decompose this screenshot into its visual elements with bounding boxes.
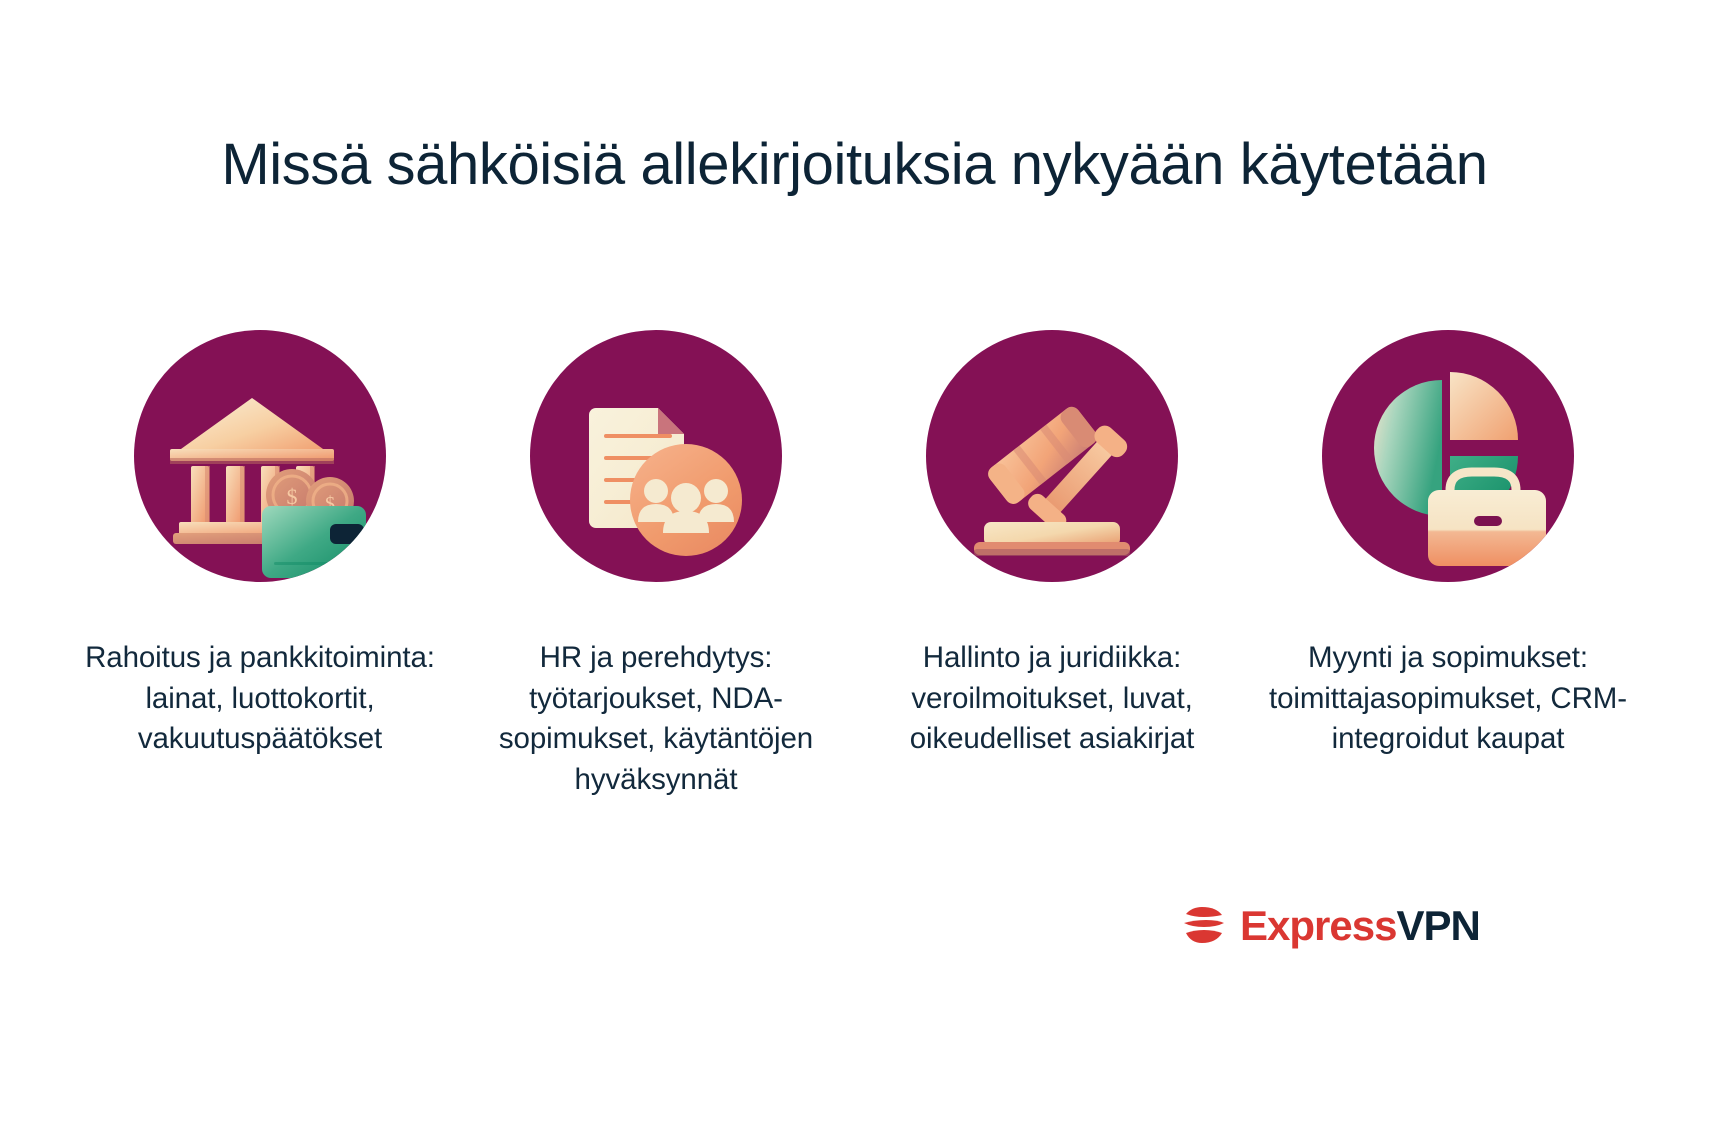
infographic-page: Missä sähköisiä allekirjoituksia nykyään… bbox=[0, 0, 1709, 1121]
icon-circle-sales bbox=[1322, 330, 1574, 582]
card-row: $ $ Rahoitus ja pankkitoiminta: lainat, … bbox=[62, 330, 1647, 801]
card-legal: Hallinto ja juridiikka: veroilmoitukset,… bbox=[854, 330, 1250, 760]
card-finance: $ $ Rahoitus ja pankkitoiminta: lainat, … bbox=[62, 330, 458, 760]
logo-express-text: Express bbox=[1240, 902, 1396, 949]
card-sales: Myynti ja sopimukset: toimittajasopimuks… bbox=[1250, 330, 1646, 760]
expressvpn-logo: ExpressVPN bbox=[1178, 900, 1480, 952]
card-hr: HR ja perehdytys: työtarjoukset, NDA-sop… bbox=[458, 330, 854, 801]
card-caption: Rahoitus ja pankkitoiminta: lainat, luot… bbox=[75, 638, 445, 760]
card-caption: Hallinto ja juridiikka: veroilmoitukset,… bbox=[867, 638, 1237, 760]
logo-vpn-text: VPN bbox=[1396, 902, 1479, 949]
card-caption: Myynti ja sopimukset: toimittajasopimuks… bbox=[1263, 638, 1633, 760]
icon-circle-finance: $ $ bbox=[134, 330, 386, 582]
document-people-icon bbox=[530, 330, 782, 582]
icon-circle-hr bbox=[530, 330, 782, 582]
gavel-icon bbox=[926, 330, 1178, 582]
card-caption: HR ja perehdytys: työtarjoukset, NDA-sop… bbox=[471, 638, 841, 801]
bank-wallet-icon: $ $ bbox=[134, 330, 386, 582]
page-title: Missä sähköisiä allekirjoituksia nykyään… bbox=[0, 133, 1709, 197]
piechart-briefcase-icon bbox=[1322, 330, 1574, 582]
expressvpn-wordmark: ExpressVPN bbox=[1240, 905, 1480, 947]
svg-text:$: $ bbox=[287, 484, 298, 509]
expressvpn-e-mark bbox=[1178, 900, 1230, 952]
icon-circle-legal bbox=[926, 330, 1178, 582]
